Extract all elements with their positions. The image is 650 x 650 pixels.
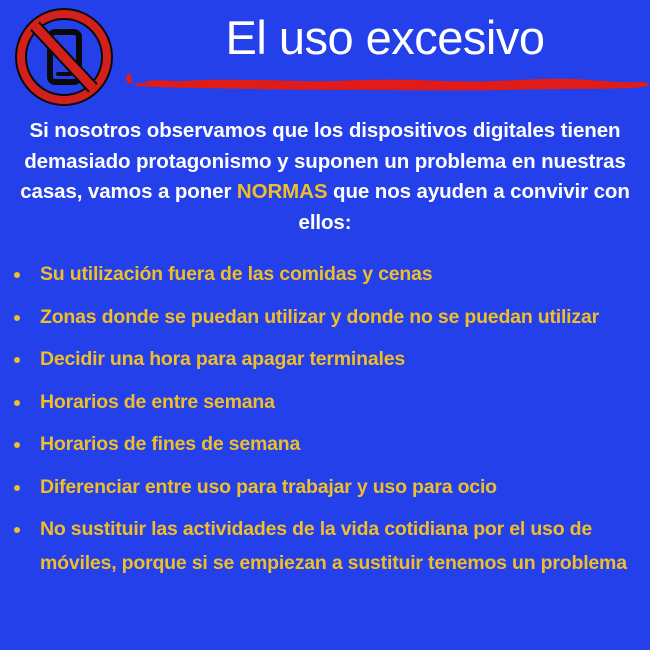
poster-canvas: El uso excesivo Si nosotros observamos q… — [0, 0, 650, 650]
list-item: Diferenciar entre uso para trabajar y us… — [0, 471, 650, 505]
rule-text: Decidir una hora para apagar terminales — [40, 348, 405, 370]
bullet-dot-icon — [14, 272, 20, 278]
title-underline-brushstroke — [122, 66, 650, 94]
bullet-dot-icon — [14, 442, 20, 448]
bullet-dot-icon — [14, 527, 20, 533]
no-phone-icon — [14, 6, 114, 108]
intro-highlight-normas: NORMAS — [237, 180, 328, 203]
intro-paragraph: Si nosotros observamos que los dispositi… — [4, 116, 646, 238]
list-item: Su utilización fuera de las comidas y ce… — [0, 258, 650, 292]
list-item: Decidir una hora para apagar terminales — [0, 343, 650, 377]
rule-text: Horarios de fines de semana — [40, 433, 300, 455]
list-item: Horarios de fines de semana — [0, 428, 650, 462]
poster-header: El uso excesivo — [0, 0, 650, 112]
rule-text: Horarios de entre semana — [40, 391, 275, 413]
rules-list: Su utilización fuera de las comidas y ce… — [0, 258, 650, 589]
rule-text: Zonas donde se puedan utilizar y donde n… — [40, 306, 599, 328]
rule-text: No sustituir las actividades de la vida … — [40, 518, 627, 574]
page-title: El uso excesivo — [130, 10, 640, 65]
list-item: No sustituir las actividades de la vida … — [0, 513, 650, 580]
rule-text: Diferenciar entre uso para trabajar y us… — [40, 476, 497, 498]
bullet-dot-icon — [14, 315, 20, 321]
rule-text: Su utilización fuera de las comidas y ce… — [40, 263, 432, 285]
bullet-dot-icon — [14, 400, 20, 406]
bullet-dot-icon — [14, 485, 20, 491]
intro-text-after: que nos ayuden a convivir con ellos: — [299, 180, 630, 234]
bullet-dot-icon — [14, 357, 20, 363]
list-item: Zonas donde se puedan utilizar y donde n… — [0, 301, 650, 335]
list-item: Horarios de entre semana — [0, 386, 650, 420]
